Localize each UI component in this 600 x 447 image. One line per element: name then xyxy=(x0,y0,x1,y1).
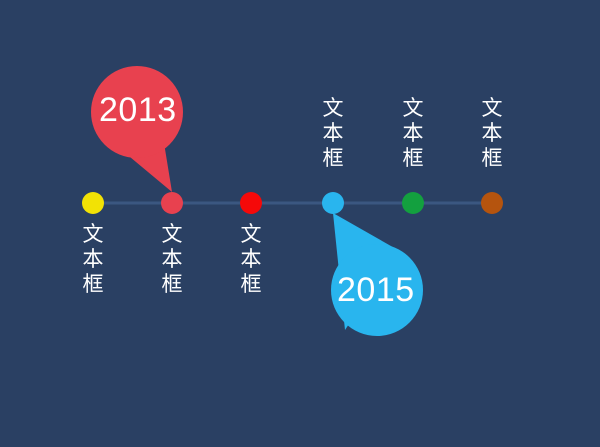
timeline-node-label-5: 文 本 框 xyxy=(400,96,426,171)
timeline-node-label-1: 文 本 框 xyxy=(80,222,106,297)
timeline-node-dot-6[interactable] xyxy=(481,192,503,214)
timeline-node-label-4: 文 本 框 xyxy=(320,96,346,171)
callout-2015-year-label: 2015 xyxy=(337,273,415,307)
callout-2013-shape[interactable] xyxy=(91,66,183,192)
timeline-node-dot-2[interactable] xyxy=(161,192,183,214)
callout-2013-year-label: 2013 xyxy=(99,93,177,127)
timeline-infographic-canvas: 文 本 框 文 本 框 文 本 框 文 本 框 文 本 框 文 本 框 2013… xyxy=(0,0,600,447)
timeline-node-dot-4[interactable] xyxy=(322,192,344,214)
timeline-node-label-6: 文 本 框 xyxy=(479,96,505,171)
timeline-node-label-3: 文 本 框 xyxy=(238,222,264,297)
timeline-node-dot-5[interactable] xyxy=(402,192,424,214)
timeline-node-dot-1[interactable] xyxy=(82,192,104,214)
timeline-node-label-2: 文 本 框 xyxy=(159,222,185,297)
timeline-node-dot-3[interactable] xyxy=(240,192,262,214)
